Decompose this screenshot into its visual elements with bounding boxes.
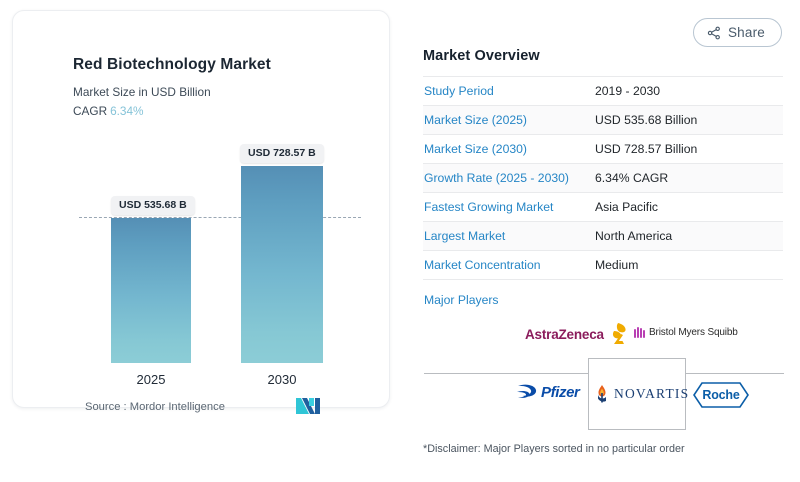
x-axis-tick-2030: 2030 xyxy=(241,372,323,387)
bar-chart-plot: USD 535.68 B USD 728.57 B 2025 2030 xyxy=(13,11,391,409)
bristol-myers-squibb-logo: Bristol Myers Squibb xyxy=(633,325,738,339)
divider-horizontal-left xyxy=(424,373,597,374)
pfizer-mark xyxy=(515,382,539,402)
row-key: Market Size (2030) xyxy=(423,135,595,164)
row-value: North America xyxy=(595,222,783,251)
row-value: 6.34% CAGR xyxy=(595,164,783,193)
astrazeneca-label: AstraZeneca xyxy=(525,327,604,342)
novartis-logo: NOVARTIS xyxy=(595,384,689,403)
bar-value-label-2030: USD 728.57 B xyxy=(240,144,324,163)
market-overview-panel: Market Overview Study Period 2019 - 2030… xyxy=(423,48,783,280)
row-key: Fastest Growing Market xyxy=(423,193,595,222)
mordor-intelligence-logo xyxy=(296,397,322,415)
novartis-mark xyxy=(595,384,609,403)
row-value: 2019 - 2030 xyxy=(595,77,783,106)
share-button[interactable]: Share xyxy=(693,18,782,47)
pfizer-logo: Pfizer xyxy=(515,382,579,402)
table-row: Market Size (2025) USD 535.68 Billion xyxy=(423,106,783,135)
bar-2030[interactable] xyxy=(241,166,323,363)
x-axis-tick-2025: 2025 xyxy=(111,372,191,387)
row-value: USD 535.68 Billion xyxy=(595,106,783,135)
table-row: Market Size (2030) USD 728.57 Billion xyxy=(423,135,783,164)
bms-mark xyxy=(633,325,646,339)
row-key: Market Concentration xyxy=(423,251,595,280)
overview-table: Study Period 2019 - 2030 Market Size (20… xyxy=(423,76,783,280)
disclaimer-text: *Disclaimer: Major Players sorted in no … xyxy=(423,443,685,455)
astrazeneca-logo: AstraZeneca xyxy=(525,322,627,346)
source-label: Source : Mordor Intelligence xyxy=(85,401,225,413)
row-key: Market Size (2025) xyxy=(423,106,595,135)
pfizer-label: Pfizer xyxy=(541,384,579,401)
bms-label: Bristol Myers Squibb xyxy=(649,327,738,338)
share-nodes-icon xyxy=(707,26,721,40)
table-row: Study Period 2019 - 2030 xyxy=(423,77,783,106)
row-value: Asia Pacific xyxy=(595,193,783,222)
astrazeneca-mark xyxy=(605,322,627,346)
roche-label: Roche xyxy=(693,382,749,408)
table-row: Growth Rate (2025 - 2030) 6.34% CAGR xyxy=(423,164,783,193)
row-key: Study Period xyxy=(423,77,595,106)
overview-title: Market Overview xyxy=(423,48,783,64)
market-snapshot-page: Share Red Biotechnology Market Market Si… xyxy=(0,0,800,482)
row-key: Growth Rate (2025 - 2030) xyxy=(423,164,595,193)
major-players-grid: AstraZeneca Bristol Myers Squibb xyxy=(415,282,790,442)
row-key: Largest Market xyxy=(423,222,595,251)
chart-card: Red Biotechnology Market Market Size in … xyxy=(12,10,390,408)
bar-2025[interactable] xyxy=(111,218,191,363)
share-label: Share xyxy=(728,25,765,40)
row-value: Medium xyxy=(595,251,783,280)
row-value: USD 728.57 Billion xyxy=(595,135,783,164)
table-row: Market Concentration Medium xyxy=(423,251,783,280)
divider-horizontal-right xyxy=(686,373,784,374)
novartis-label: NOVARTIS xyxy=(614,386,689,402)
table-row: Fastest Growing Market Asia Pacific xyxy=(423,193,783,222)
table-row: Largest Market North America xyxy=(423,222,783,251)
roche-logo: Roche xyxy=(693,382,749,408)
bar-value-label-2025: USD 535.68 B xyxy=(111,196,195,215)
